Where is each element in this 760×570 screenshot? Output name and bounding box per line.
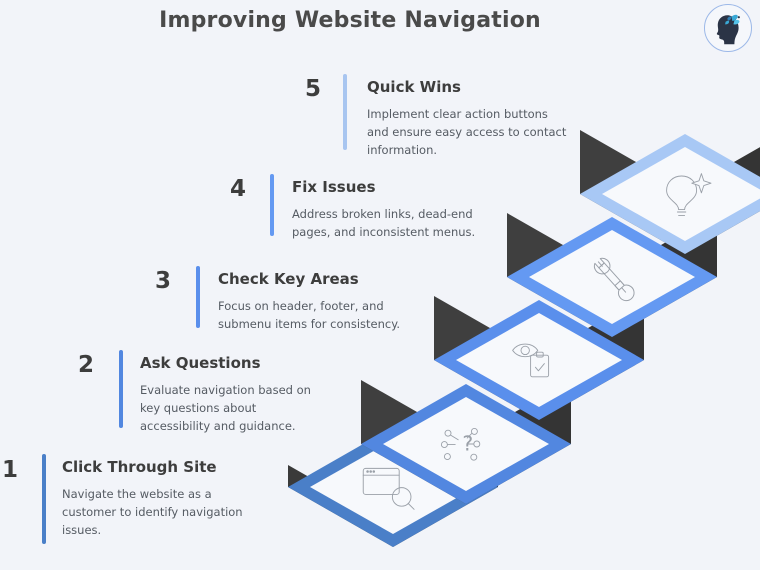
stair-step-3 [434,296,644,420]
step-heading-4: Fix Issues [292,178,376,196]
step-number-3: 3 [155,270,171,293]
step-body-2: Evaluate navigation based on key questio… [140,382,330,435]
step-divider-1 [42,454,46,544]
step-divider-5 [343,74,347,150]
step-body-5: Implement clear action buttons and ensur… [367,106,573,159]
step-heading-3: Check Key Areas [218,270,359,288]
step-number-2: 2 [78,354,94,377]
stair-step-5 [580,130,760,254]
woman-silhouette-butterfly-logo [705,5,751,51]
step-heading-2: Ask Questions [140,354,261,372]
step-divider-3 [196,266,200,328]
brand-logo [704,4,752,52]
infographic-canvas: Improving Website Navigation [0,0,760,570]
step-body-3: Focus on header, footer, and submenu ite… [218,298,418,334]
step-heading-1: Click Through Site [62,458,217,476]
step-divider-4 [270,174,274,236]
step-body-4: Address broken links, dead-end pages, an… [292,206,502,242]
stair-step-2: ? [361,380,571,504]
step-number-4: 4 [230,178,246,201]
step-body-1: Navigate the website as a customer to id… [62,486,262,539]
stair-step-4 [507,213,717,337]
page-title: Improving Website Navigation [0,8,700,33]
step-number-1: 1 [2,459,18,482]
step-number-5: 5 [305,78,321,101]
step-divider-2 [119,350,123,428]
step-heading-5: Quick Wins [367,78,461,96]
stair-step-1 [288,427,498,547]
svg-text:?: ? [462,432,473,456]
